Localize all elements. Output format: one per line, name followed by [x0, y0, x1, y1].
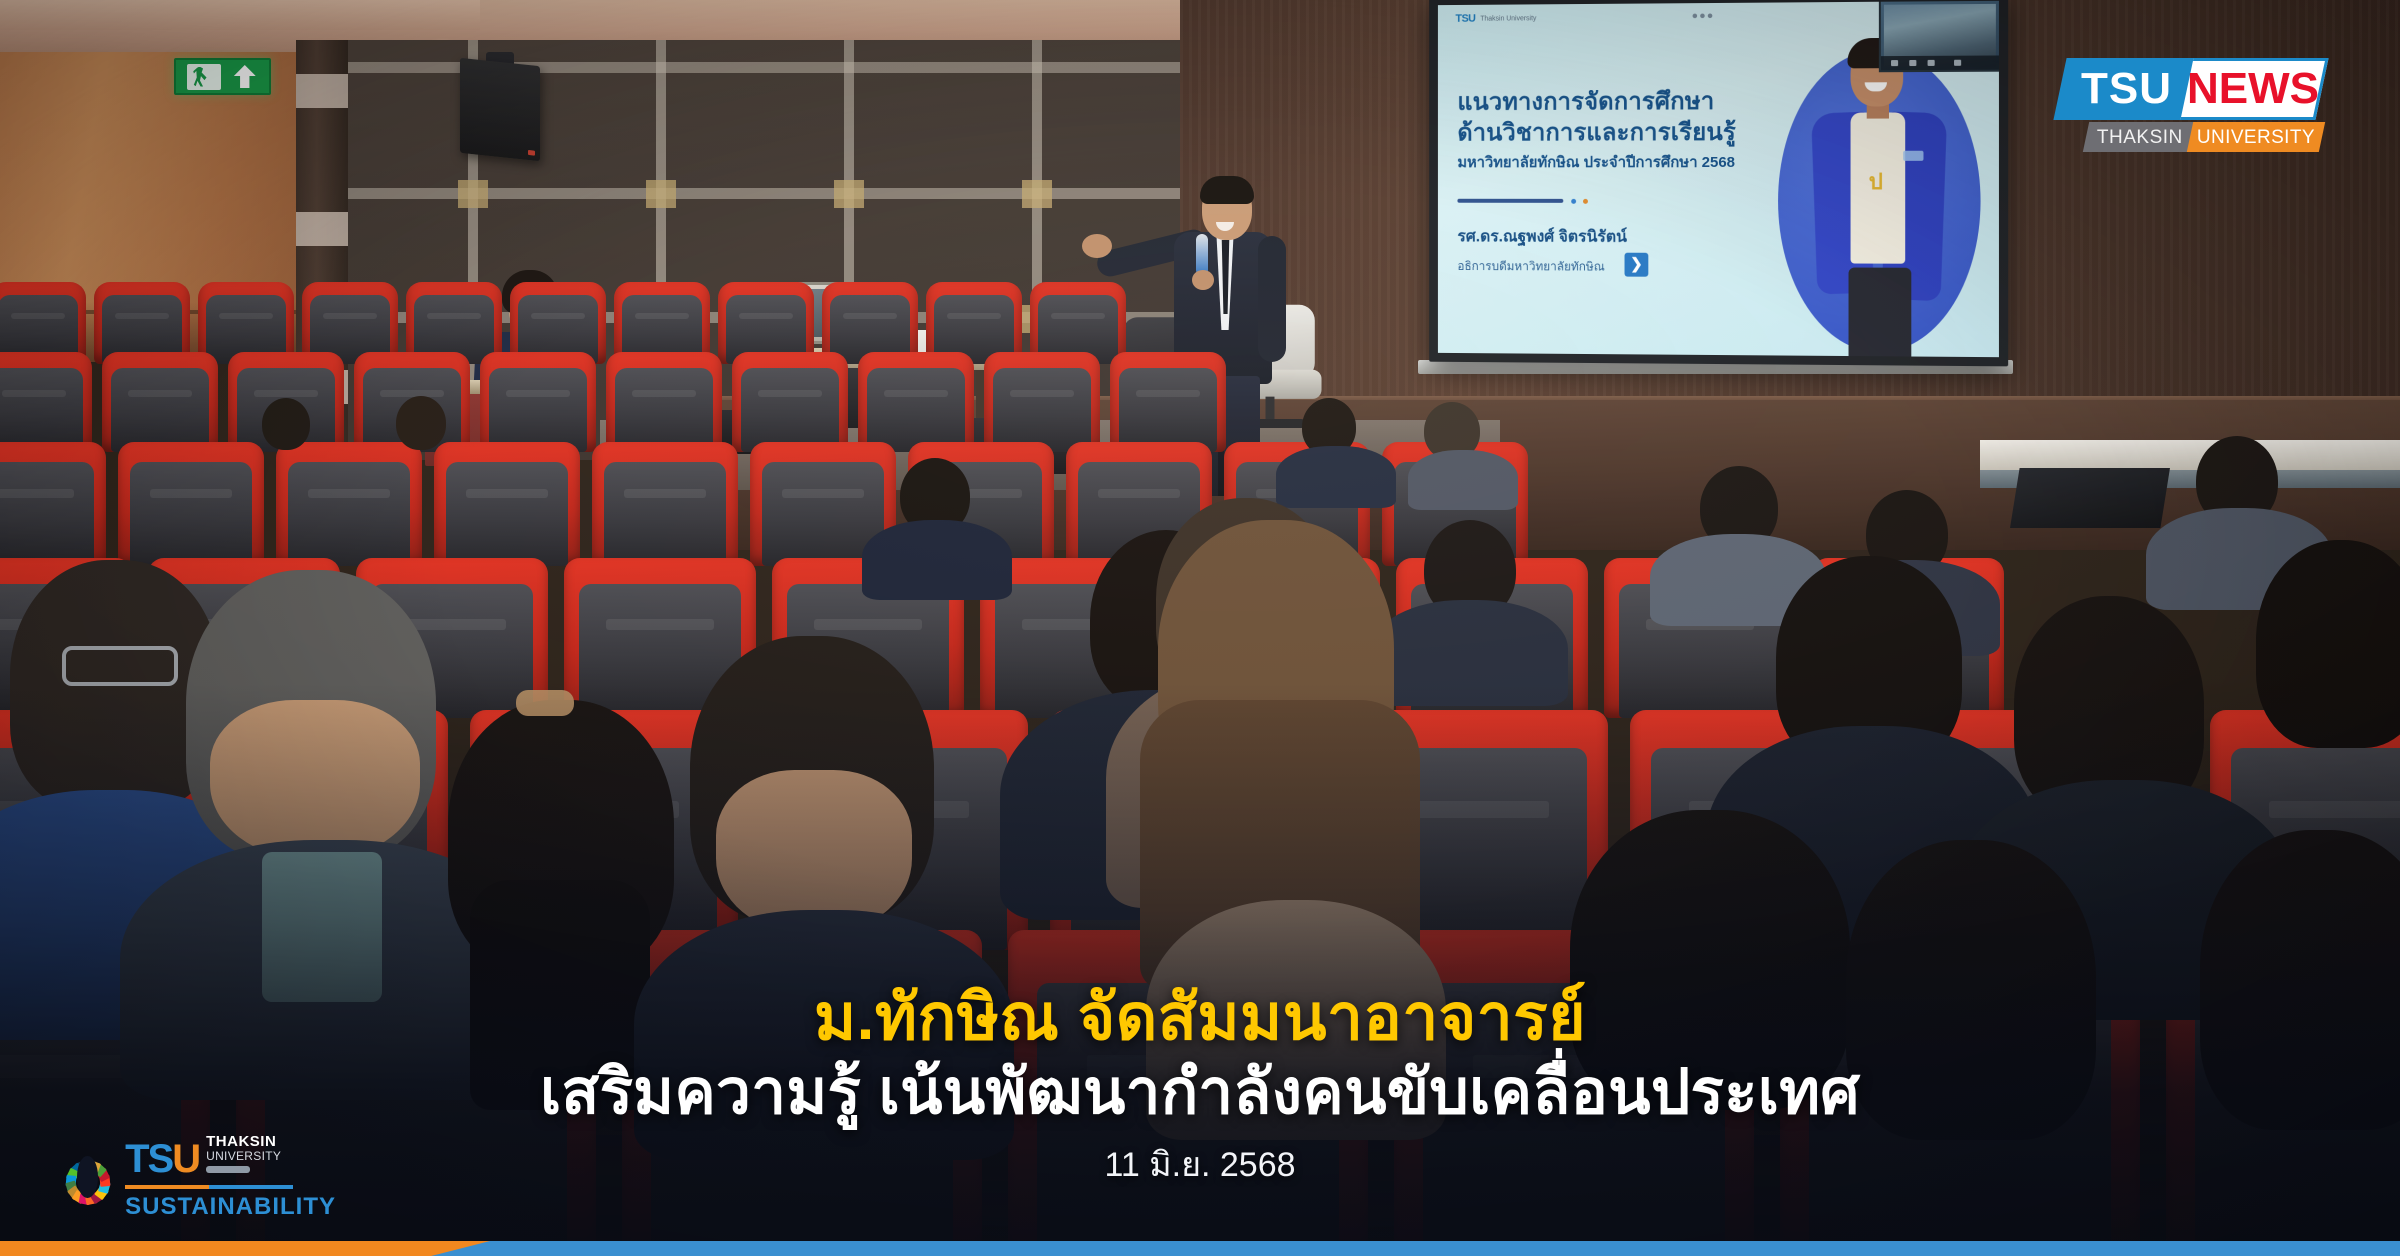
sdg-wheel-icon	[66, 1134, 109, 1220]
sustainability-org-name: THAKSIN	[206, 1134, 281, 1150]
audience-shoulders	[862, 520, 1012, 600]
headline-line-1: ม.ทักษิณ จัดสัมมนาอาจารย์	[0, 982, 2400, 1054]
sustainability-tsu-text: TSU	[125, 1137, 199, 1181]
sustainability-logo: TSU THAKSIN UNIVERSITY SUSTAINABILITY	[66, 1122, 336, 1232]
audience-face	[210, 700, 420, 860]
headline-block: ม.ทักษิณ จัดสัมมนาอาจารย์ เสริมความรู้ เ…	[0, 982, 2400, 1186]
logo-news-block: NEWS	[2180, 58, 2328, 120]
sustainability-tagline: SUSTAINABILITY	[125, 1194, 336, 1220]
audience-head	[262, 398, 310, 450]
logo-tsu-block: TSU	[2053, 58, 2199, 120]
audience-shoulders	[1372, 600, 1568, 706]
news-cover-image: TSU Thaksin University ••• ป	[0, 0, 2400, 1256]
bottom-bar-orange-segment	[0, 1241, 490, 1256]
logo-tsu-text: TSU	[2081, 67, 2172, 111]
logo-university-block: UNIVERSITY	[2187, 122, 2325, 152]
sustainability-org-sub: UNIVERSITY	[206, 1150, 281, 1163]
headline-line-2: เสริมความรู้ เน้นพัฒนากำลังคนขับเคลื่อนป…	[0, 1057, 2400, 1129]
sustainability-divider	[125, 1185, 293, 1189]
logo-thaksin-block: THAKSIN	[2083, 122, 2198, 152]
hair-tie	[516, 690, 574, 716]
audience-shoulders	[1276, 446, 1396, 508]
logo-news-text: NEWS	[2187, 67, 2319, 111]
logo-thaksin-text: THAKSIN	[2097, 128, 2183, 147]
sustainability-tsu-mark: TSU	[125, 1139, 199, 1179]
eyeglasses	[62, 646, 178, 686]
bottom-brand-bar	[0, 1241, 2400, 1256]
audience-shirt-collar	[262, 852, 382, 1002]
sustainability-rule	[206, 1166, 250, 1173]
publish-date: 11 มิ.ย. 2568	[0, 1145, 2400, 1186]
audience-head	[2256, 540, 2400, 748]
tsu-news-logo: TSU NEWS THAKSIN UNIVERSITY	[2060, 58, 2322, 154]
audience-head	[396, 396, 446, 450]
logo-university-text: UNIVERSITY	[2197, 128, 2315, 147]
audience-shoulders	[1408, 450, 1518, 510]
